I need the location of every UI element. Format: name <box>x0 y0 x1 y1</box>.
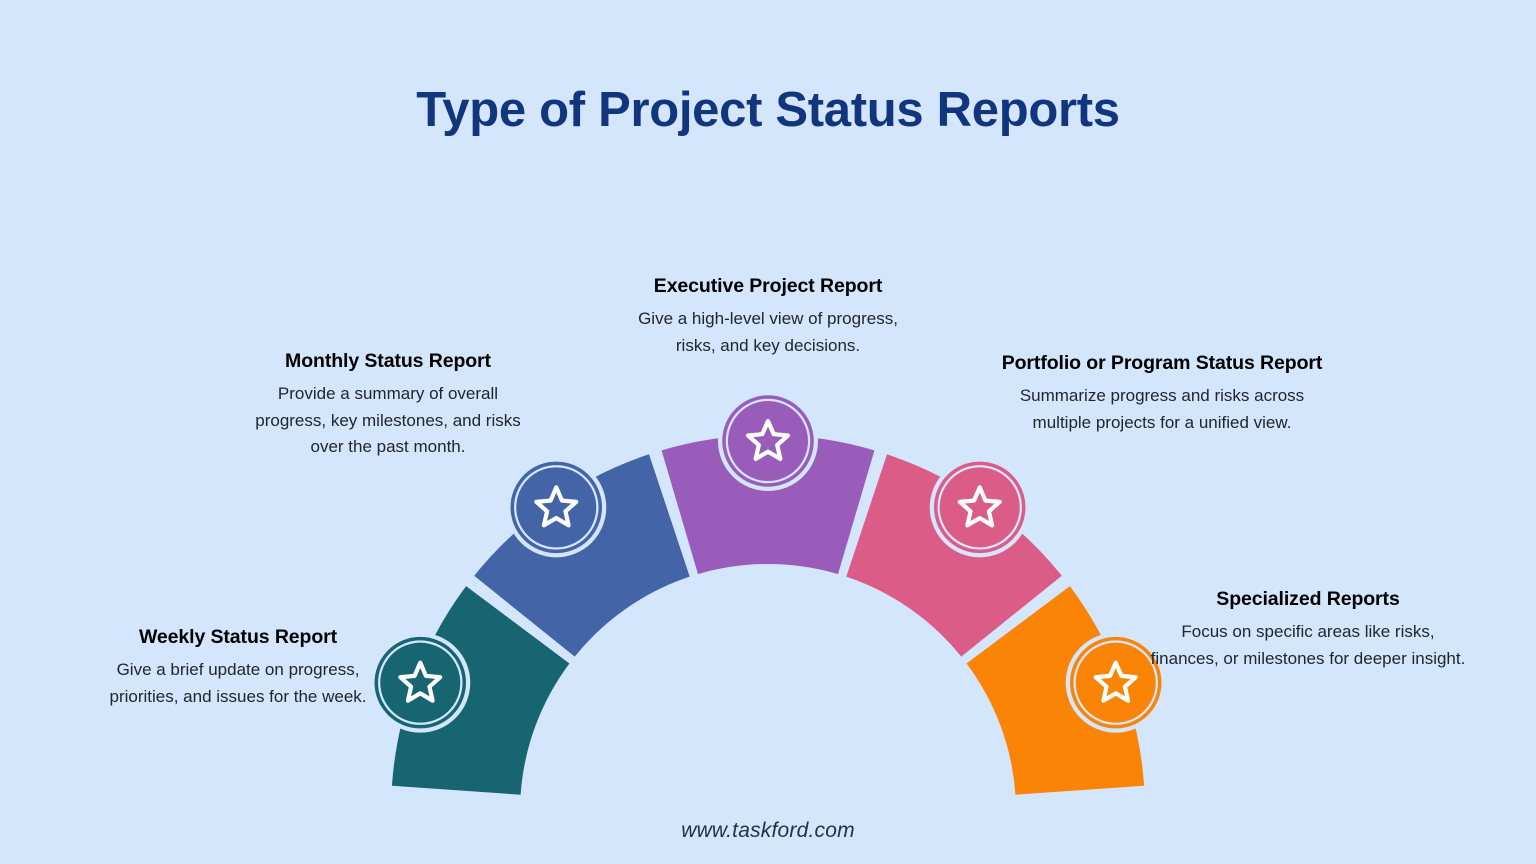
callout-weekly-description: Give a brief update on progress, priorit… <box>84 657 392 710</box>
callout-portfolio-description: Summarize progress and risks across mult… <box>1000 383 1324 436</box>
star-badge-disc-portfolio[interactable] <box>940 467 1020 547</box>
callout-monthly-description: Provide a summary of overall progress, k… <box>236 381 540 461</box>
callout-executive: Executive Project Report Give a high-lev… <box>606 273 930 359</box>
callout-weekly: Weekly Status Report Give a brief update… <box>84 624 392 710</box>
callout-specialized-title: Specialized Reports <box>1136 586 1480 612</box>
star-badge-disc-monthly[interactable] <box>516 467 596 547</box>
star-badge-disc-weekly[interactable] <box>380 643 460 723</box>
callout-portfolio-title: Portfolio or Program Status Report <box>1000 350 1324 376</box>
callout-specialized: Specialized Reports Focus on specific ar… <box>1136 586 1480 672</box>
callout-monthly: Monthly Status Report Provide a summary … <box>236 348 540 461</box>
callout-monthly-title: Monthly Status Report <box>236 348 540 374</box>
footer-url: www.taskford.com <box>0 819 1536 843</box>
callout-specialized-description: Focus on specific areas like risks, fina… <box>1136 619 1480 672</box>
star-badge-portfolio[interactable] <box>930 457 1030 557</box>
callout-executive-title: Executive Project Report <box>606 273 930 299</box>
star-badge-executive[interactable] <box>718 391 818 491</box>
star-badge-monthly[interactable] <box>506 457 606 557</box>
callout-weekly-title: Weekly Status Report <box>84 624 392 650</box>
star-badge-disc-executive[interactable] <box>728 401 808 481</box>
callout-portfolio: Portfolio or Program Status Report Summa… <box>1000 350 1324 436</box>
infographic-canvas: Type of Project Status Reports Weekly St… <box>0 0 1536 864</box>
callout-executive-description: Give a high-level view of progress, risk… <box>606 306 930 359</box>
